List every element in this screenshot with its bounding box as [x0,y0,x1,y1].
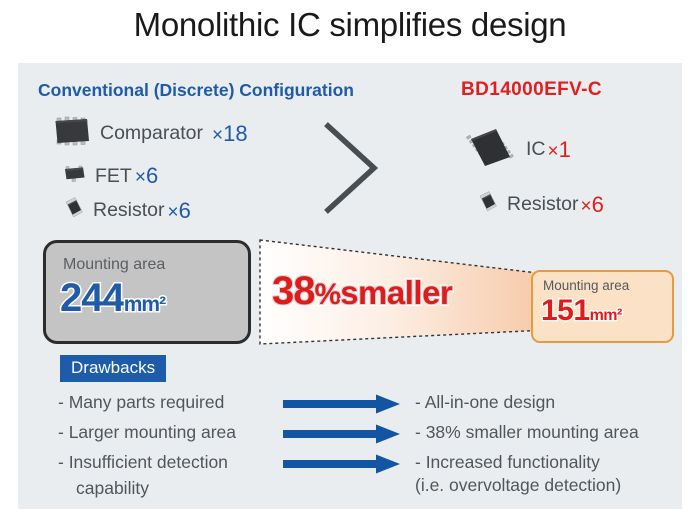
component-label: FET [95,165,132,188]
drawbacks-badge: Drawbacks [60,355,166,382]
chevron-right-icon [318,118,384,218]
mounting-area-label: Mounting area [543,278,629,293]
tssop-ic-icon [464,127,516,172]
component-label: Resistor [93,199,165,222]
mounting-area-box-product: Mounting area 151mm² [531,270,674,343]
drawback-item: capability [76,478,149,499]
component-row-fet: FET ×6 [63,163,158,189]
right-arrow-icon [283,394,401,414]
benefit-item: - 38% smaller mounting area [415,422,639,443]
component-count: ×6 [168,198,191,224]
component-row-resistor-left: Resistor ×6 [63,196,191,225]
sot-fet-icon [63,165,87,187]
infographic-root: Monolithic IC simplifies design Conventi… [0,0,700,529]
drawback-item: - Insufficient detection [58,452,228,473]
chip-resistor-icon [477,190,499,219]
chip-resistor-icon [63,196,85,225]
conventional-column-header: Conventional (Discrete) Configuration [38,80,354,101]
comparison-band-text: 38%smaller [272,269,452,314]
right-arrow-icon [283,424,401,444]
benefit-item: - Increased functionality [415,452,600,473]
benefit-item: (i.e. overvoltage detection) [415,475,621,496]
benefit-item: - All-in-one design [415,392,555,413]
component-count: ×1 [548,137,571,163]
component-count: ×6 [581,192,604,218]
mounting-area-value: 151mm² [541,294,622,328]
product-column-header: BD14000EFV-C [461,79,602,101]
component-row-comparator: Comparator ×18 [52,116,248,151]
component-count: ×6 [135,163,158,189]
soic-chip-icon [52,116,92,151]
component-row-ic: IC ×1 [464,127,571,172]
mounting-area-value: 244mm² [60,276,165,321]
page-title: Monolithic IC simplifies design [0,6,700,44]
drawback-item: - Many parts required [58,392,224,413]
component-label: IC [526,138,546,161]
component-count: ×18 [212,121,248,147]
right-arrow-icon [283,454,401,474]
mounting-area-label: Mounting area [63,256,165,274]
component-label: Resistor [507,193,579,216]
component-label: Comparator [100,122,203,145]
drawback-item: - Larger mounting area [58,422,236,443]
mounting-area-box-conventional: Mounting area 244mm² [43,240,251,344]
component-row-resistor-right: Resistor ×6 [477,190,604,219]
